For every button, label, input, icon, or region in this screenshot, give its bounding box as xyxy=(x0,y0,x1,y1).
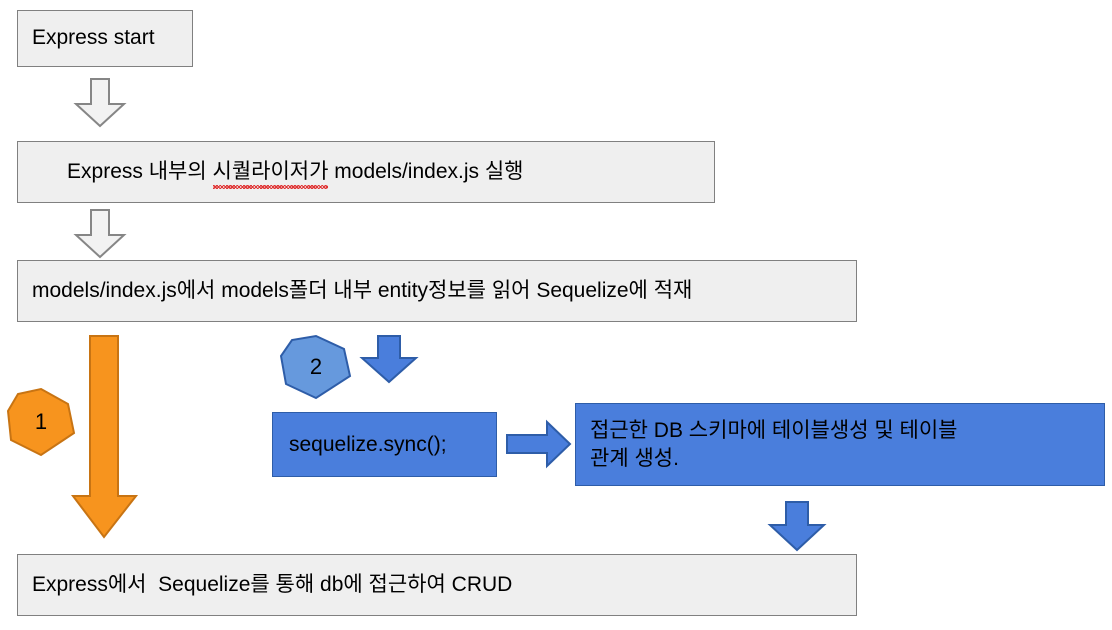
label-segment-before: Express 내부의 xyxy=(67,160,213,183)
label-segment-after: models/index.js 실행 xyxy=(328,160,523,183)
node-load-entities-label: models/index.js에서 models폴더 내부 entity정보를 … xyxy=(18,278,692,304)
node-sequelize-sync-label: sequelize.sync(); xyxy=(273,431,447,458)
node-schema-result-line1: 접근한 DB 스키마에 테이블생성 및 테이블 xyxy=(590,419,957,442)
misspelled-word-text: 시퀄라이저가 xyxy=(213,160,329,183)
right-arrow-blue-to-result xyxy=(505,419,573,469)
misspelled-word: 시퀄라이저가 xyxy=(213,159,329,185)
badge-step-one[interactable]: 1 xyxy=(6,387,76,457)
node-crud-label: Express에서 Sequelize를 통해 db에 접근하여 CRUD xyxy=(18,572,512,598)
diagram-canvas: Express start Express 내부의 시퀄라이저가 models/… xyxy=(0,0,1112,630)
down-arrow-blue-to-crud xyxy=(766,500,828,552)
down-arrow-orange-long xyxy=(70,334,140,540)
node-express-start-label: Express start xyxy=(18,25,155,51)
node-models-index-run[interactable]: Express 내부의 시퀄라이저가 models/index.js 실행 xyxy=(17,141,715,203)
node-models-index-run-label: Express 내부의 시퀄라이저가 models/index.js 실행 xyxy=(18,133,523,212)
node-schema-result-label: 접근한 DB 스키마에 테이블생성 및 테이블 관계 생성. xyxy=(576,417,957,472)
node-schema-result[interactable]: 접근한 DB 스키마에 테이블생성 및 테이블 관계 생성. xyxy=(575,403,1105,486)
badge-step-two[interactable]: 2 xyxy=(278,334,354,400)
down-arrow-gray-2 xyxy=(74,209,126,259)
node-schema-result-line2: 관계 생성. xyxy=(590,447,679,470)
node-load-entities[interactable]: models/index.js에서 models폴더 내부 entity정보를 … xyxy=(17,260,857,322)
node-express-start[interactable]: Express start xyxy=(17,10,193,67)
down-arrow-blue-to-sync xyxy=(358,334,420,384)
node-sequelize-sync[interactable]: sequelize.sync(); xyxy=(272,412,497,477)
down-arrow-gray-1 xyxy=(74,78,126,128)
node-crud[interactable]: Express에서 Sequelize를 통해 db에 접근하여 CRUD xyxy=(17,554,857,616)
